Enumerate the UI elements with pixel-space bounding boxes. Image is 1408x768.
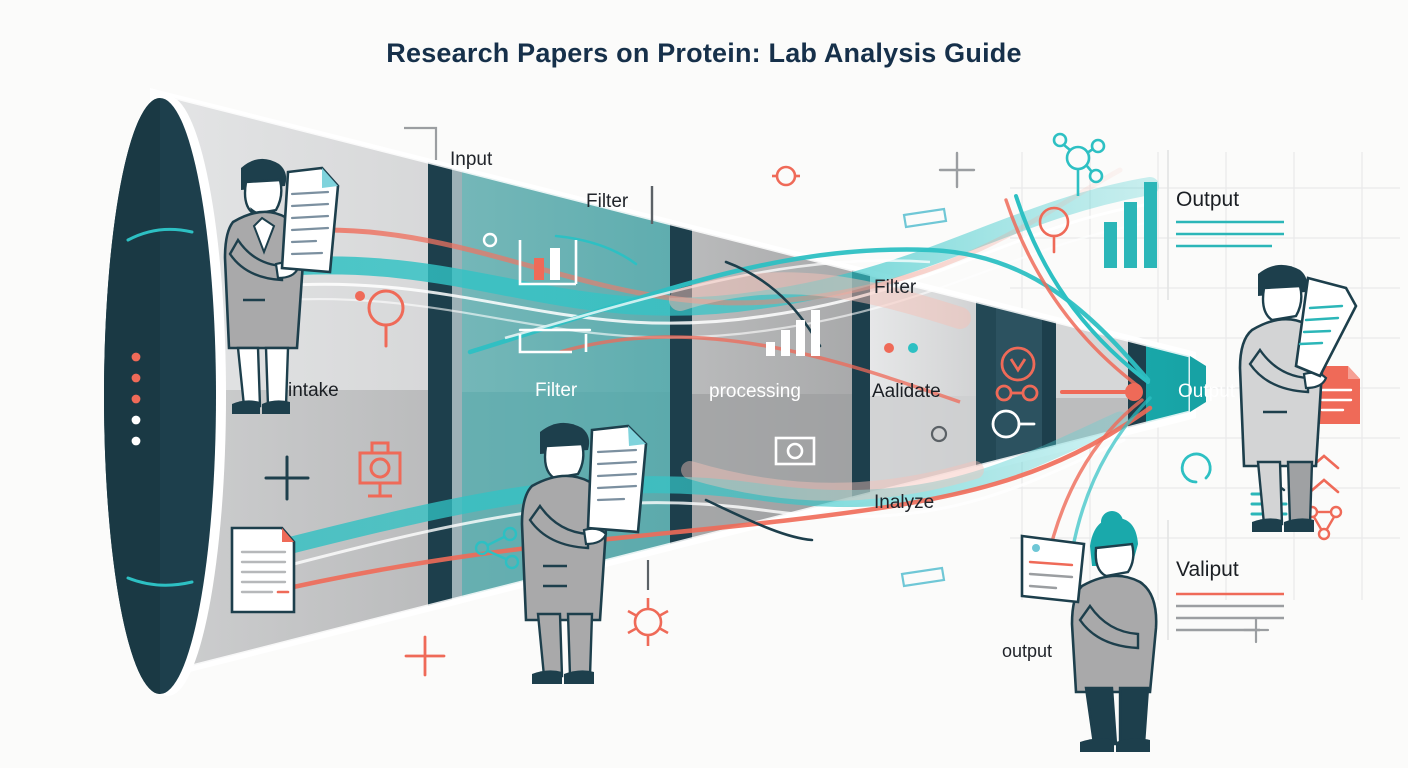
annotation-input: Input [450, 149, 492, 171]
circle-marker-icon [884, 343, 894, 353]
card-output-title: Output [1176, 188, 1239, 212]
funnel-stage-processing[interactable]: processing [709, 381, 801, 403]
annotation-output: output [1002, 641, 1052, 662]
annotation-filter-top: Filter [586, 191, 628, 213]
card-valiput-title: Valiput [1176, 558, 1239, 582]
document-icon [232, 528, 294, 612]
page-title: Research Papers on Protein: Lab Analysis… [0, 38, 1408, 69]
funnel-stage-validate[interactable]: Aalidate [872, 381, 941, 403]
annotation-analyze: Inalyze [874, 492, 934, 514]
funnel-stage-filter[interactable]: Filter [535, 380, 577, 402]
circle-marker-icon [355, 291, 365, 301]
funnel-stage-output[interactable]: Output [1178, 381, 1235, 403]
illustration-canvas: Research Papers on Protein: Lab Analysis… [0, 0, 1408, 768]
circle-marker-icon [908, 343, 918, 353]
funnel-stage-intake[interactable]: intake [288, 380, 339, 402]
annotation-filter-mid: Filter [874, 277, 916, 299]
